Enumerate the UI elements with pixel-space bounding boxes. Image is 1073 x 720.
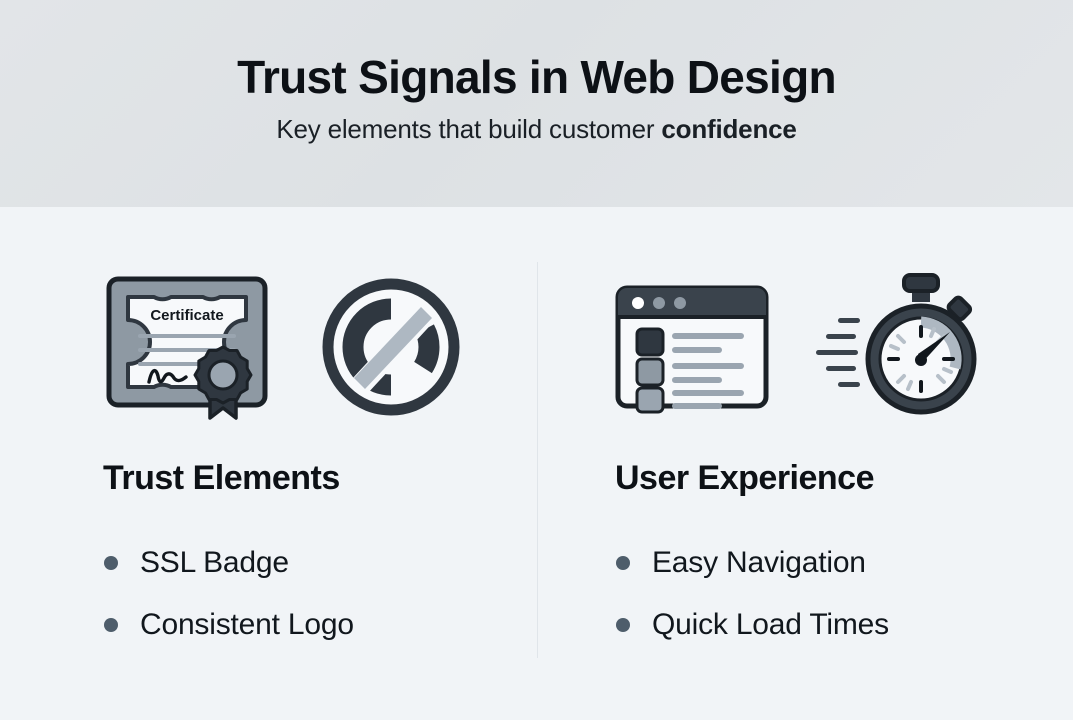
ssl-logo-icon	[320, 276, 462, 418]
list-item: SSL Badge	[104, 532, 354, 594]
header-band: Trust Signals in Web Design Key elements…	[0, 0, 1073, 207]
stopwatch-icon	[812, 272, 984, 422]
bullet-dot-icon	[104, 618, 118, 632]
list-item: Consistent Logo	[104, 594, 354, 656]
bullet-label: Quick Load Times	[652, 610, 889, 640]
page-subtitle: Key elements that build customer confide…	[276, 115, 796, 144]
column-user-experience: User Experience Easy Navigation Quick Lo…	[580, 207, 1050, 720]
icon-row-user-experience	[612, 267, 984, 427]
content-area: Certificate	[0, 207, 1073, 720]
bullet-dot-icon	[616, 556, 630, 570]
infographic-poster: Trust Signals in Web Design Key elements…	[0, 0, 1073, 720]
page-title: Trust Signals in Web Design	[237, 53, 836, 101]
subtitle-accent: confidence	[661, 114, 796, 144]
bullet-label: Easy Navigation	[652, 548, 866, 578]
column-heading-trust-elements: Trust Elements	[103, 459, 340, 498]
bullet-label: SSL Badge	[140, 548, 289, 578]
icon-row-trust-elements: Certificate	[102, 267, 462, 427]
browser-window-icon	[612, 276, 772, 418]
list-item: Easy Navigation	[616, 532, 889, 594]
column-trust-elements: Certificate	[68, 207, 538, 720]
bullet-dot-icon	[616, 618, 630, 632]
bullet-list-trust-elements: SSL Badge Consistent Logo	[104, 532, 354, 656]
bullet-label: Consistent Logo	[140, 610, 354, 640]
certificate-icon: Certificate	[102, 272, 272, 422]
list-item: Quick Load Times	[616, 594, 889, 656]
bullet-list-user-experience: Easy Navigation Quick Load Times	[616, 532, 889, 656]
bullet-dot-icon	[104, 556, 118, 570]
certificate-caption: Certificate	[150, 307, 223, 324]
subtitle-prefix: Key elements that build customer	[276, 114, 661, 144]
column-heading-user-experience: User Experience	[615, 459, 874, 498]
